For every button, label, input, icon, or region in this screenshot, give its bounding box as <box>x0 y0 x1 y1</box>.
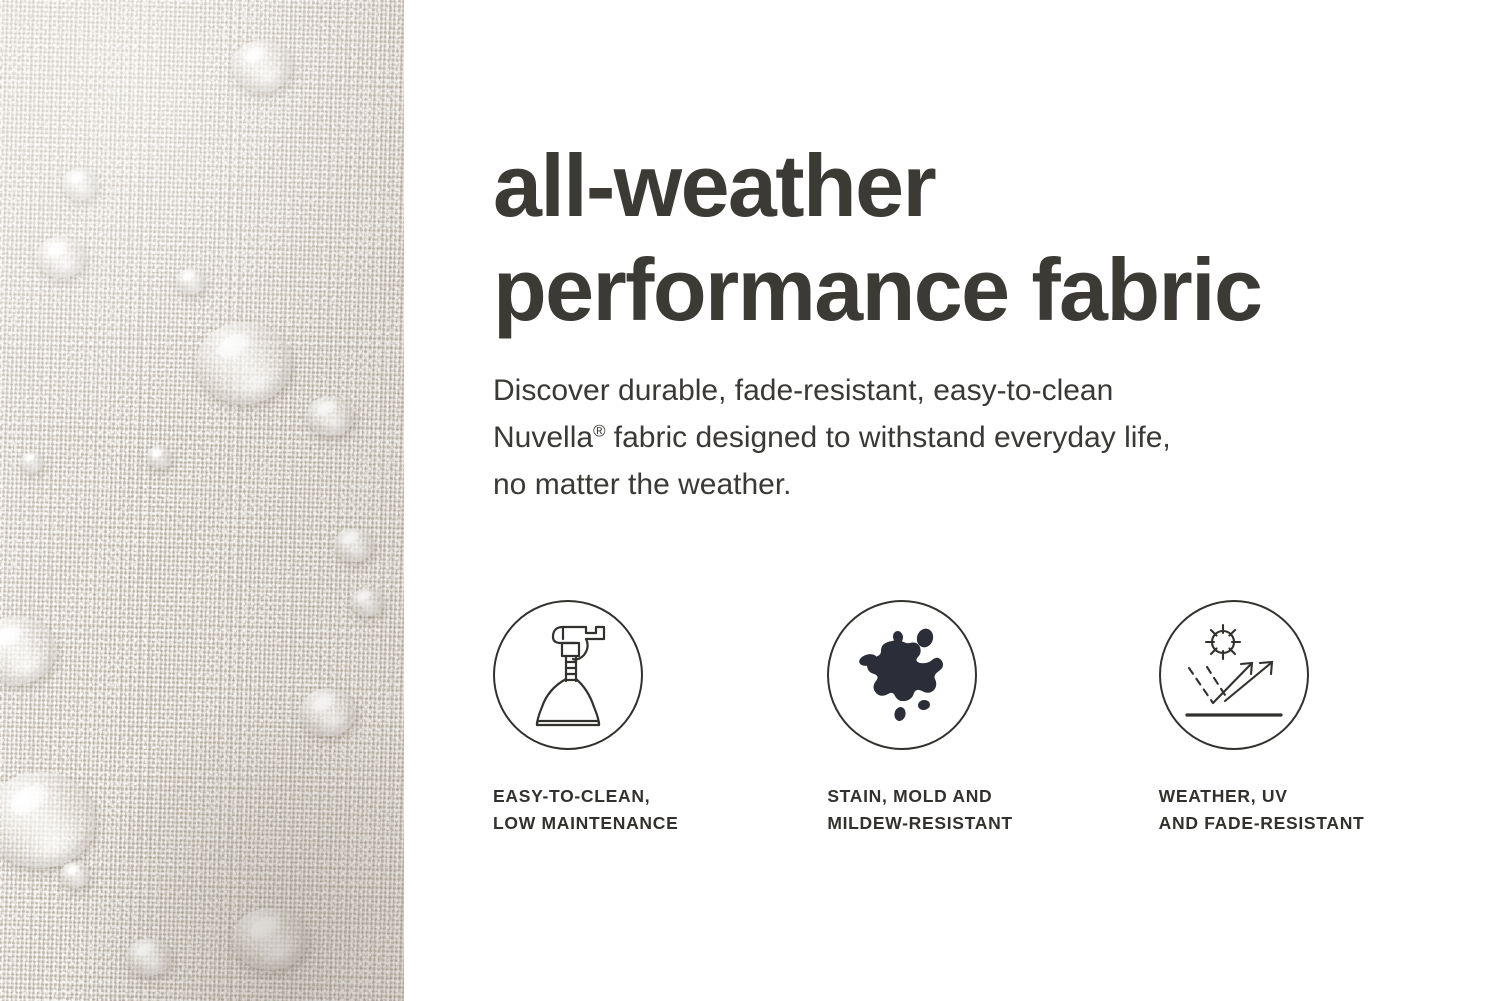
fabric-water-beading-photo <box>0 0 404 1001</box>
subcopy-paragraph: Discover durable, fade-resistant, easy-t… <box>493 367 1393 508</box>
subcopy-line-2: fabric designed to withstand everyday li… <box>605 421 1170 454</box>
feature-caption: STAIN, MOLD AND MILDEW-RESISTANT <box>827 783 1158 837</box>
subcopy-line-3: no matter the weather. <box>493 468 792 501</box>
subcopy-brand: Nuvella <box>493 421 593 454</box>
registered-trademark-mark: ® <box>593 422 605 441</box>
photo-lighting-overlay <box>0 0 404 1001</box>
feature-caption: WEATHER, UV AND FADE-RESISTANT <box>1159 783 1493 837</box>
feature-list: EASY-TO-CLEAN, LOW MAINTENANCE STAIN, MO… <box>493 600 1493 837</box>
feature-stain-resistant: STAIN, MOLD AND MILDEW-RESISTANT <box>827 600 1158 837</box>
stain-splat-icon <box>827 600 977 750</box>
sun-uv-reflect-icon <box>1159 600 1309 750</box>
feature-caption: EASY-TO-CLEAN, LOW MAINTENANCE <box>493 783 827 837</box>
feature-weather-uv-resistant: WEATHER, UV AND FADE-RESISTANT <box>1159 600 1493 837</box>
banner-content: all-weather performance fabric Discover … <box>493 0 1493 1001</box>
spray-bottle-icon <box>493 600 643 750</box>
feature-easy-to-clean: EASY-TO-CLEAN, LOW MAINTENANCE <box>493 600 827 837</box>
subcopy-line-1: Discover durable, fade-resistant, easy-t… <box>493 374 1113 407</box>
all-weather-fabric-banner: all-weather performance fabric Discover … <box>0 0 1500 1001</box>
page-title: all-weather performance fabric <box>493 134 1453 342</box>
